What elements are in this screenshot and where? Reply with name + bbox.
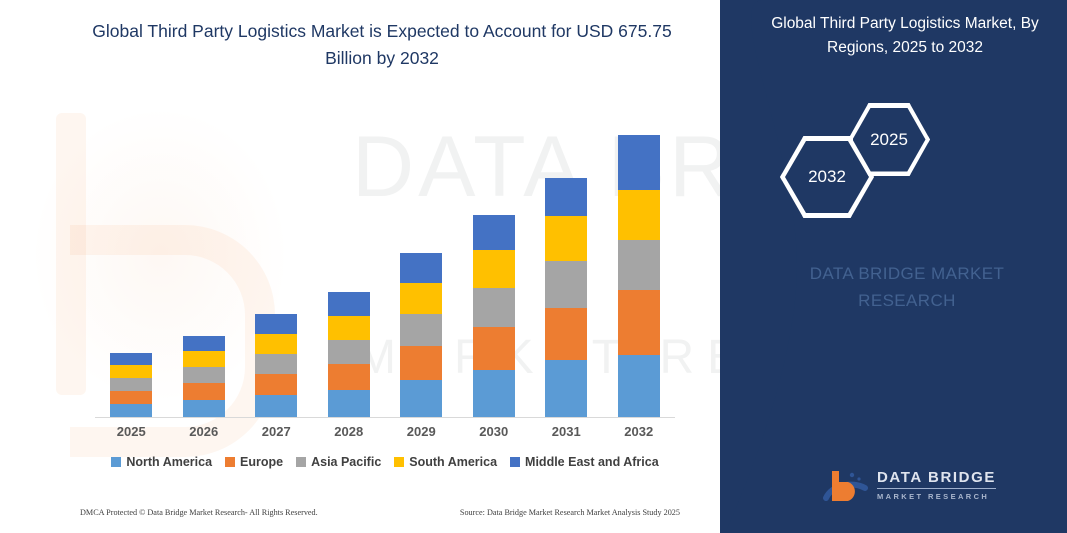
- bar-segment[interactable]: [328, 316, 370, 340]
- bar-segment[interactable]: [110, 365, 152, 378]
- legend-swatch: [296, 457, 306, 467]
- legend-swatch: [394, 457, 404, 467]
- bar-group: [313, 292, 385, 417]
- bar-segment[interactable]: [545, 178, 587, 216]
- bar-segment[interactable]: [545, 261, 587, 308]
- stacked-bar[interactable]: [183, 336, 225, 417]
- legend-swatch: [225, 457, 235, 467]
- bar-segment[interactable]: [255, 374, 297, 395]
- bar-segment[interactable]: [183, 336, 225, 351]
- legend-item[interactable]: Asia Pacific: [296, 455, 381, 469]
- legend-swatch: [111, 457, 121, 467]
- bar-segment[interactable]: [400, 346, 442, 380]
- hexagon-end-year-label: 2032: [808, 167, 846, 187]
- legend-item[interactable]: South America: [394, 455, 497, 469]
- bar-segment[interactable]: [618, 240, 660, 290]
- x-axis-label: 2030: [458, 424, 530, 446]
- legend-item[interactable]: North America: [111, 455, 212, 469]
- x-axis-label: 2031: [530, 424, 602, 446]
- x-axis-label: 2026: [168, 424, 240, 446]
- hexagon-start-year-label: 2025: [870, 130, 908, 150]
- bar-segment[interactable]: [473, 250, 515, 288]
- bar-segment[interactable]: [255, 314, 297, 334]
- stacked-bar[interactable]: [255, 314, 297, 417]
- bar-segment[interactable]: [545, 216, 587, 261]
- logo-sub-text: MARKET RESEARCH: [877, 492, 996, 501]
- stacked-bar[interactable]: [618, 135, 660, 417]
- legend-swatch: [510, 457, 520, 467]
- logo-bridge-svg: [822, 462, 868, 508]
- bar-segment[interactable]: [545, 360, 587, 417]
- bar-segment[interactable]: [328, 364, 370, 390]
- bar-segment[interactable]: [400, 253, 442, 283]
- chart-panel: DATA BRIDGE MARKET RESEARCH Global Third…: [0, 0, 760, 533]
- bar-group: [385, 253, 457, 417]
- x-axis-label: 2028: [313, 424, 385, 446]
- stacked-bar[interactable]: [400, 253, 442, 417]
- logo-bridge-icon: [822, 462, 868, 508]
- stacked-bar[interactable]: [328, 292, 370, 417]
- bar-segment[interactable]: [328, 292, 370, 316]
- legend-label: Europe: [240, 455, 283, 469]
- legend-label: North America: [126, 455, 212, 469]
- bar-group: [168, 336, 240, 417]
- hexagon-start-year-inner: 2025: [853, 108, 926, 172]
- legend-label: Asia Pacific: [311, 455, 381, 469]
- stacked-bar-series: [95, 100, 675, 417]
- bar-segment[interactable]: [618, 290, 660, 355]
- bar-segment[interactable]: [473, 370, 515, 417]
- x-axis-label: 2029: [385, 424, 457, 446]
- bar-segment[interactable]: [255, 354, 297, 374]
- x-axis-labels: 20252026202720282029203020312032: [95, 424, 675, 446]
- panel-title: Global Third Party Logistics Market, By …: [755, 12, 1055, 60]
- bar-segment[interactable]: [400, 314, 442, 346]
- bar-group: [603, 135, 675, 417]
- bar-segment[interactable]: [183, 400, 225, 417]
- bar-segment[interactable]: [473, 288, 515, 327]
- stacked-bar[interactable]: [110, 353, 152, 417]
- bar-segment[interactable]: [400, 283, 442, 314]
- bar-segment[interactable]: [110, 391, 152, 404]
- bar-group: [240, 314, 312, 417]
- bar-segment[interactable]: [183, 367, 225, 383]
- bar-group: [458, 215, 530, 417]
- x-axis-label: 2027: [240, 424, 312, 446]
- bar-group: [95, 353, 167, 417]
- footer-source: Source: Data Bridge Market Research Mark…: [460, 508, 680, 517]
- legend-item[interactable]: Europe: [225, 455, 283, 469]
- stacked-bar[interactable]: [473, 215, 515, 417]
- logo-main-text: DATA BRIDGE: [877, 469, 996, 486]
- bar-segment[interactable]: [110, 378, 152, 391]
- bar-segment[interactable]: [618, 135, 660, 190]
- brand-watermark-text: DATA BRIDGE MARKET RESEARCH: [777, 260, 1037, 314]
- legend-label: Middle East and Africa: [525, 455, 659, 469]
- navy-side-panel: Global Third Party Logistics Market, By …: [667, 0, 1067, 533]
- bar-segment[interactable]: [473, 215, 515, 250]
- x-axis-label: 2025: [95, 424, 167, 446]
- bar-segment[interactable]: [328, 340, 370, 364]
- bar-segment[interactable]: [473, 327, 515, 370]
- footer: DMCA Protected © Data Bridge Market Rese…: [80, 508, 680, 517]
- chart-title: Global Third Party Logistics Market is E…: [92, 18, 672, 72]
- bar-segment[interactable]: [183, 351, 225, 367]
- footer-copyright: DMCA Protected © Data Bridge Market Rese…: [80, 508, 318, 517]
- bar-segment[interactable]: [255, 334, 297, 354]
- infographic-page: DATA BRIDGE MARKET RESEARCH Global Third…: [0, 0, 1067, 533]
- bar-segment[interactable]: [400, 380, 442, 417]
- legend-item[interactable]: Middle East and Africa: [510, 455, 659, 469]
- legend-label: South America: [409, 455, 497, 469]
- stacked-bar[interactable]: [545, 178, 587, 417]
- bar-segment[interactable]: [110, 353, 152, 365]
- logo-divider: [877, 488, 996, 489]
- bar-segment[interactable]: [328, 390, 370, 417]
- bar-segment[interactable]: [618, 190, 660, 240]
- x-axis-label: 2032: [603, 424, 675, 446]
- bar-segment[interactable]: [618, 355, 660, 417]
- bar-group: [530, 178, 602, 417]
- bar-segment[interactable]: [110, 404, 152, 417]
- bar-segment[interactable]: [545, 308, 587, 360]
- company-logo: DATA BRIDGE MARKET RESEARCH: [822, 462, 996, 508]
- chart-legend: North AmericaEuropeAsia PacificSouth Ame…: [95, 455, 675, 469]
- x-axis-line: [95, 417, 675, 418]
- bar-segment[interactable]: [255, 395, 297, 417]
- bar-segment[interactable]: [183, 383, 225, 400]
- logo-text-block: DATA BRIDGE MARKET RESEARCH: [877, 469, 996, 501]
